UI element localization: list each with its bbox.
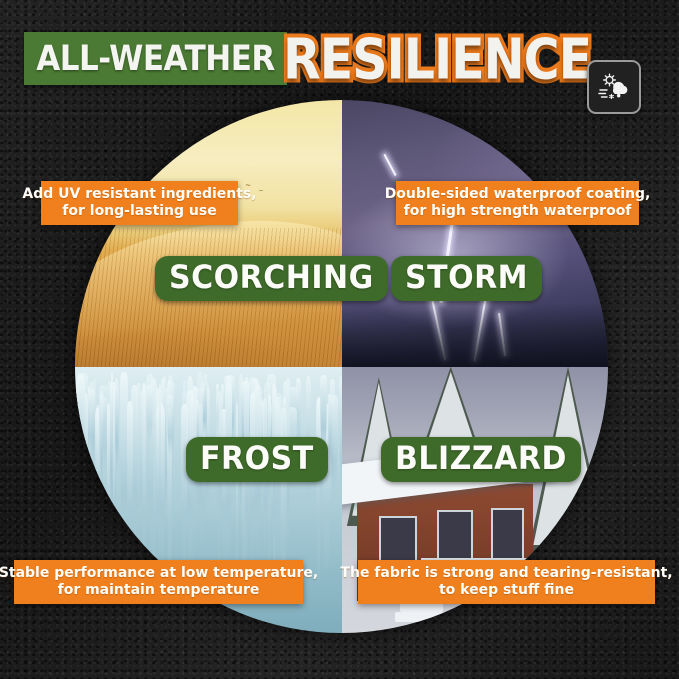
label-storm-text: STORM	[405, 259, 528, 297]
callout-waterproof: Double-sided waterproof coating, for hig…	[396, 181, 639, 225]
bird-icon: ~	[259, 188, 263, 195]
lightning-bolt-icon	[430, 292, 446, 360]
callout-lowtemp-line1: Stable performance at low temperature,	[0, 565, 318, 583]
cabin-window	[437, 510, 473, 562]
header-title-part2: RESILIENCE	[283, 26, 591, 92]
label-blizzard-text: BLIZZARD	[395, 440, 567, 478]
label-scorching: SCORCHING	[155, 256, 388, 301]
icicle-shape	[110, 384, 112, 515]
callout-waterproof-line2: for high strength waterproof	[404, 203, 632, 221]
header-title-part1: ALL-WEATHER	[36, 38, 275, 78]
weather-circle: ~ ~	[75, 100, 608, 633]
label-frost-text: FROST	[200, 440, 314, 478]
label-storm: STORM	[391, 256, 542, 301]
callout-uv-line1: Add UV resistant ingredients,	[22, 186, 256, 204]
callout-fabric-line1: The fabric is strong and tearing-resista…	[340, 565, 672, 583]
quadrant-scorching: ~ ~	[75, 100, 342, 367]
label-scorching-text: SCORCHING	[169, 259, 374, 297]
callout-lowtemp-line2: for maintain temperature	[58, 582, 260, 600]
header: ALL-WEATHER RESILIENCE	[0, 24, 679, 98]
callout-fabric-line2: to keep stuff fine	[439, 582, 574, 600]
label-blizzard: BLIZZARD	[381, 437, 581, 482]
header-resilience: RESILIENCE	[283, 24, 583, 94]
callout-lowtemp: Stable performance at low temperature, f…	[14, 560, 303, 604]
desert-dunes-icon: ~ ~	[75, 100, 342, 367]
label-frost: FROST	[186, 437, 328, 482]
callout-uv-line2: for long-lasting use	[62, 203, 216, 221]
icicle-shape	[127, 401, 134, 567]
header-green-bar: ALL-WEATHER	[24, 32, 287, 85]
icicle-shape	[181, 404, 188, 572]
lightning-bolt-icon	[384, 154, 397, 176]
pine-tree-snow	[427, 372, 475, 444]
icicle-shape	[331, 395, 338, 498]
cabin-window	[379, 516, 418, 565]
cabin-step	[395, 612, 443, 623]
lightning-bolt-icon	[498, 313, 506, 355]
sun-cloud-wind-rain-snow-icon	[597, 72, 631, 102]
callout-uv: Add UV resistant ingredients, for long-l…	[41, 181, 238, 225]
weather-badge	[587, 60, 641, 114]
poster: ~ ~	[0, 0, 679, 679]
callout-waterproof-line1: Double-sided waterproof coating,	[385, 186, 651, 204]
icicle-shape	[115, 378, 118, 472]
icicle-shape	[189, 398, 197, 573]
quadrant-storm	[342, 100, 609, 367]
callout-fabric: The fabric is strong and tearing-resista…	[358, 560, 655, 604]
icicle-shape	[107, 403, 110, 585]
lightning-storm-icon	[342, 100, 609, 367]
